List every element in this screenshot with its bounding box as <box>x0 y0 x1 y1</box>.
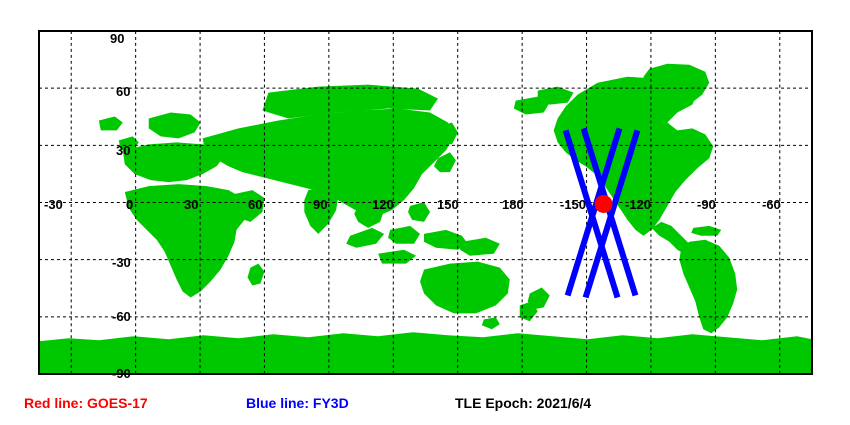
lon-label-0: 0 <box>126 198 133 211</box>
lon-label-120: 120 <box>372 198 394 211</box>
lon-label-30: 30 <box>184 198 198 211</box>
lon-label-m120: -120 <box>625 198 651 211</box>
lon-label-m60: -60 <box>762 198 781 211</box>
lat-label-30: 30 <box>116 144 130 157</box>
lon-label-m90: -90 <box>697 198 716 211</box>
legend-tle-epoch: TLE Epoch: 2021/6/4 <box>455 396 591 410</box>
legend-red-line: Red line: GOES-17 <box>24 396 148 410</box>
lat-label-90: 90 <box>110 32 124 45</box>
goes17-marker <box>595 195 613 213</box>
lon-label-90: 90 <box>313 198 327 211</box>
antarctica <box>39 332 812 374</box>
lat-label-m90: -90 <box>112 367 131 380</box>
legend-blue-line: Blue line: FY3D <box>246 396 349 410</box>
lon-label-150: 150 <box>437 198 459 211</box>
legend-footer: Red line: GOES-17 Blue line: FY3D TLE Ep… <box>0 392 850 418</box>
lon-label-m30: -30 <box>44 198 63 211</box>
map-figure: 90 60 30 0 -30 -60 -90 -30 0 30 60 90 12… <box>0 0 850 425</box>
lat-label-60: 60 <box>116 85 130 98</box>
lat-label-m60: -60 <box>112 310 131 323</box>
lon-label-60: 60 <box>248 198 262 211</box>
lat-label-m30: -30 <box>112 256 131 269</box>
lon-label-m150: -150 <box>560 198 586 211</box>
lon-label-180: 180 <box>502 198 524 211</box>
